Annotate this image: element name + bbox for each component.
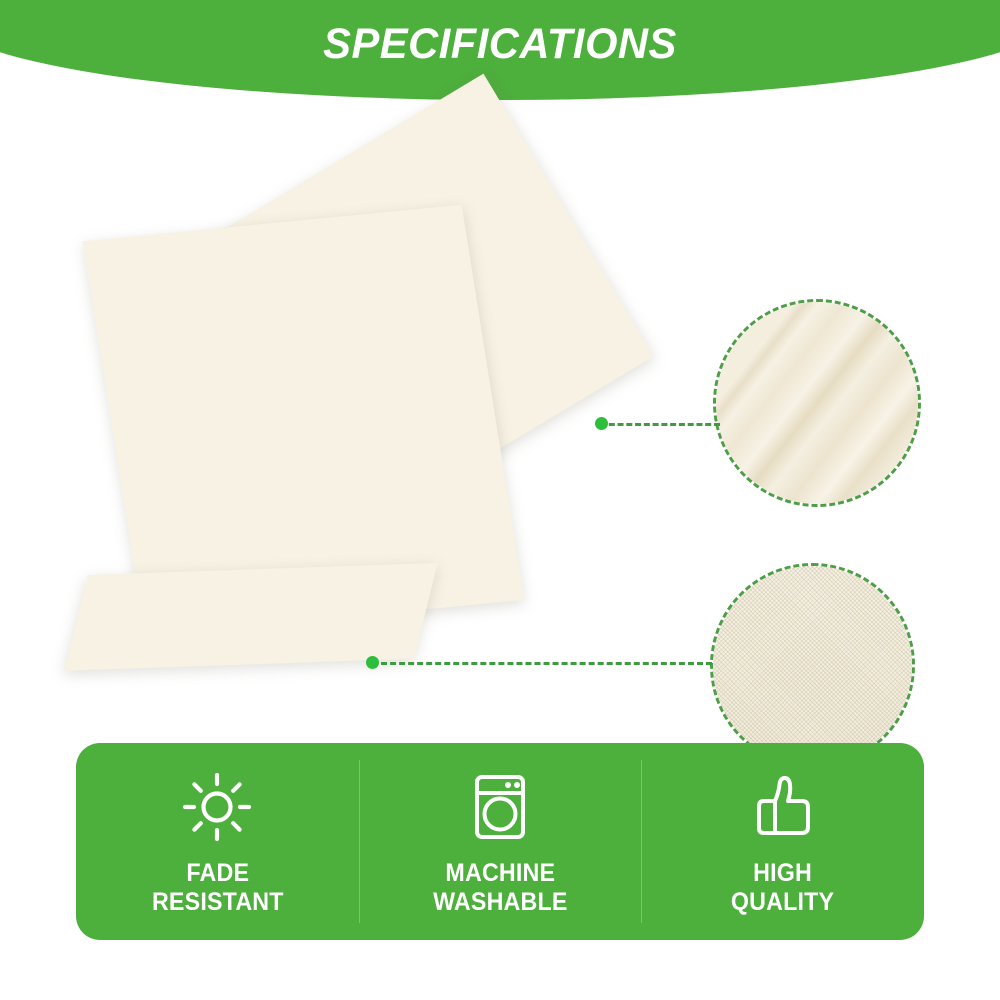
connector-dot-top	[595, 417, 608, 430]
connector-line-bottom	[372, 662, 712, 665]
feature-label: HIGH QUALITY	[731, 859, 834, 917]
feature-bar: FADE RESISTANT MACHINE WASHABLE HIG	[76, 743, 924, 940]
feature-label: MACHINE WASHABLE	[433, 859, 568, 917]
feature-high-quality: HIGH QUALITY	[641, 743, 924, 940]
fabric-fold-texture	[716, 302, 918, 504]
thumbs-up-icon	[747, 771, 819, 843]
feature-label-line1: HIGH	[731, 859, 834, 888]
feature-label-line2: QUALITY	[731, 888, 834, 917]
feature-fade-resistant: FADE RESISTANT	[76, 743, 359, 940]
detail-circle-fabric-fold	[713, 299, 921, 507]
fabric-weave-texture	[713, 566, 912, 765]
product-showcase	[0, 105, 1000, 730]
feature-label-line2: RESISTANT	[151, 888, 283, 917]
connector-line-top	[600, 423, 720, 426]
header-banner: SPECIFICATIONS	[0, 0, 1000, 105]
washing-machine-icon	[464, 771, 536, 843]
connector-dot-bottom	[366, 656, 379, 669]
feature-label-line1: FADE	[151, 859, 283, 888]
detail-circle-fabric-weave	[710, 563, 915, 768]
page-title: SPECIFICATIONS	[15, 19, 985, 69]
feature-label-line1: MACHINE	[433, 859, 568, 888]
feature-machine-washable: MACHINE WASHABLE	[359, 743, 642, 940]
feature-label: FADE RESISTANT	[151, 859, 283, 917]
product-towel-fold	[64, 563, 438, 671]
sun-icon	[181, 771, 253, 843]
feature-label-line2: WASHABLE	[433, 888, 568, 917]
